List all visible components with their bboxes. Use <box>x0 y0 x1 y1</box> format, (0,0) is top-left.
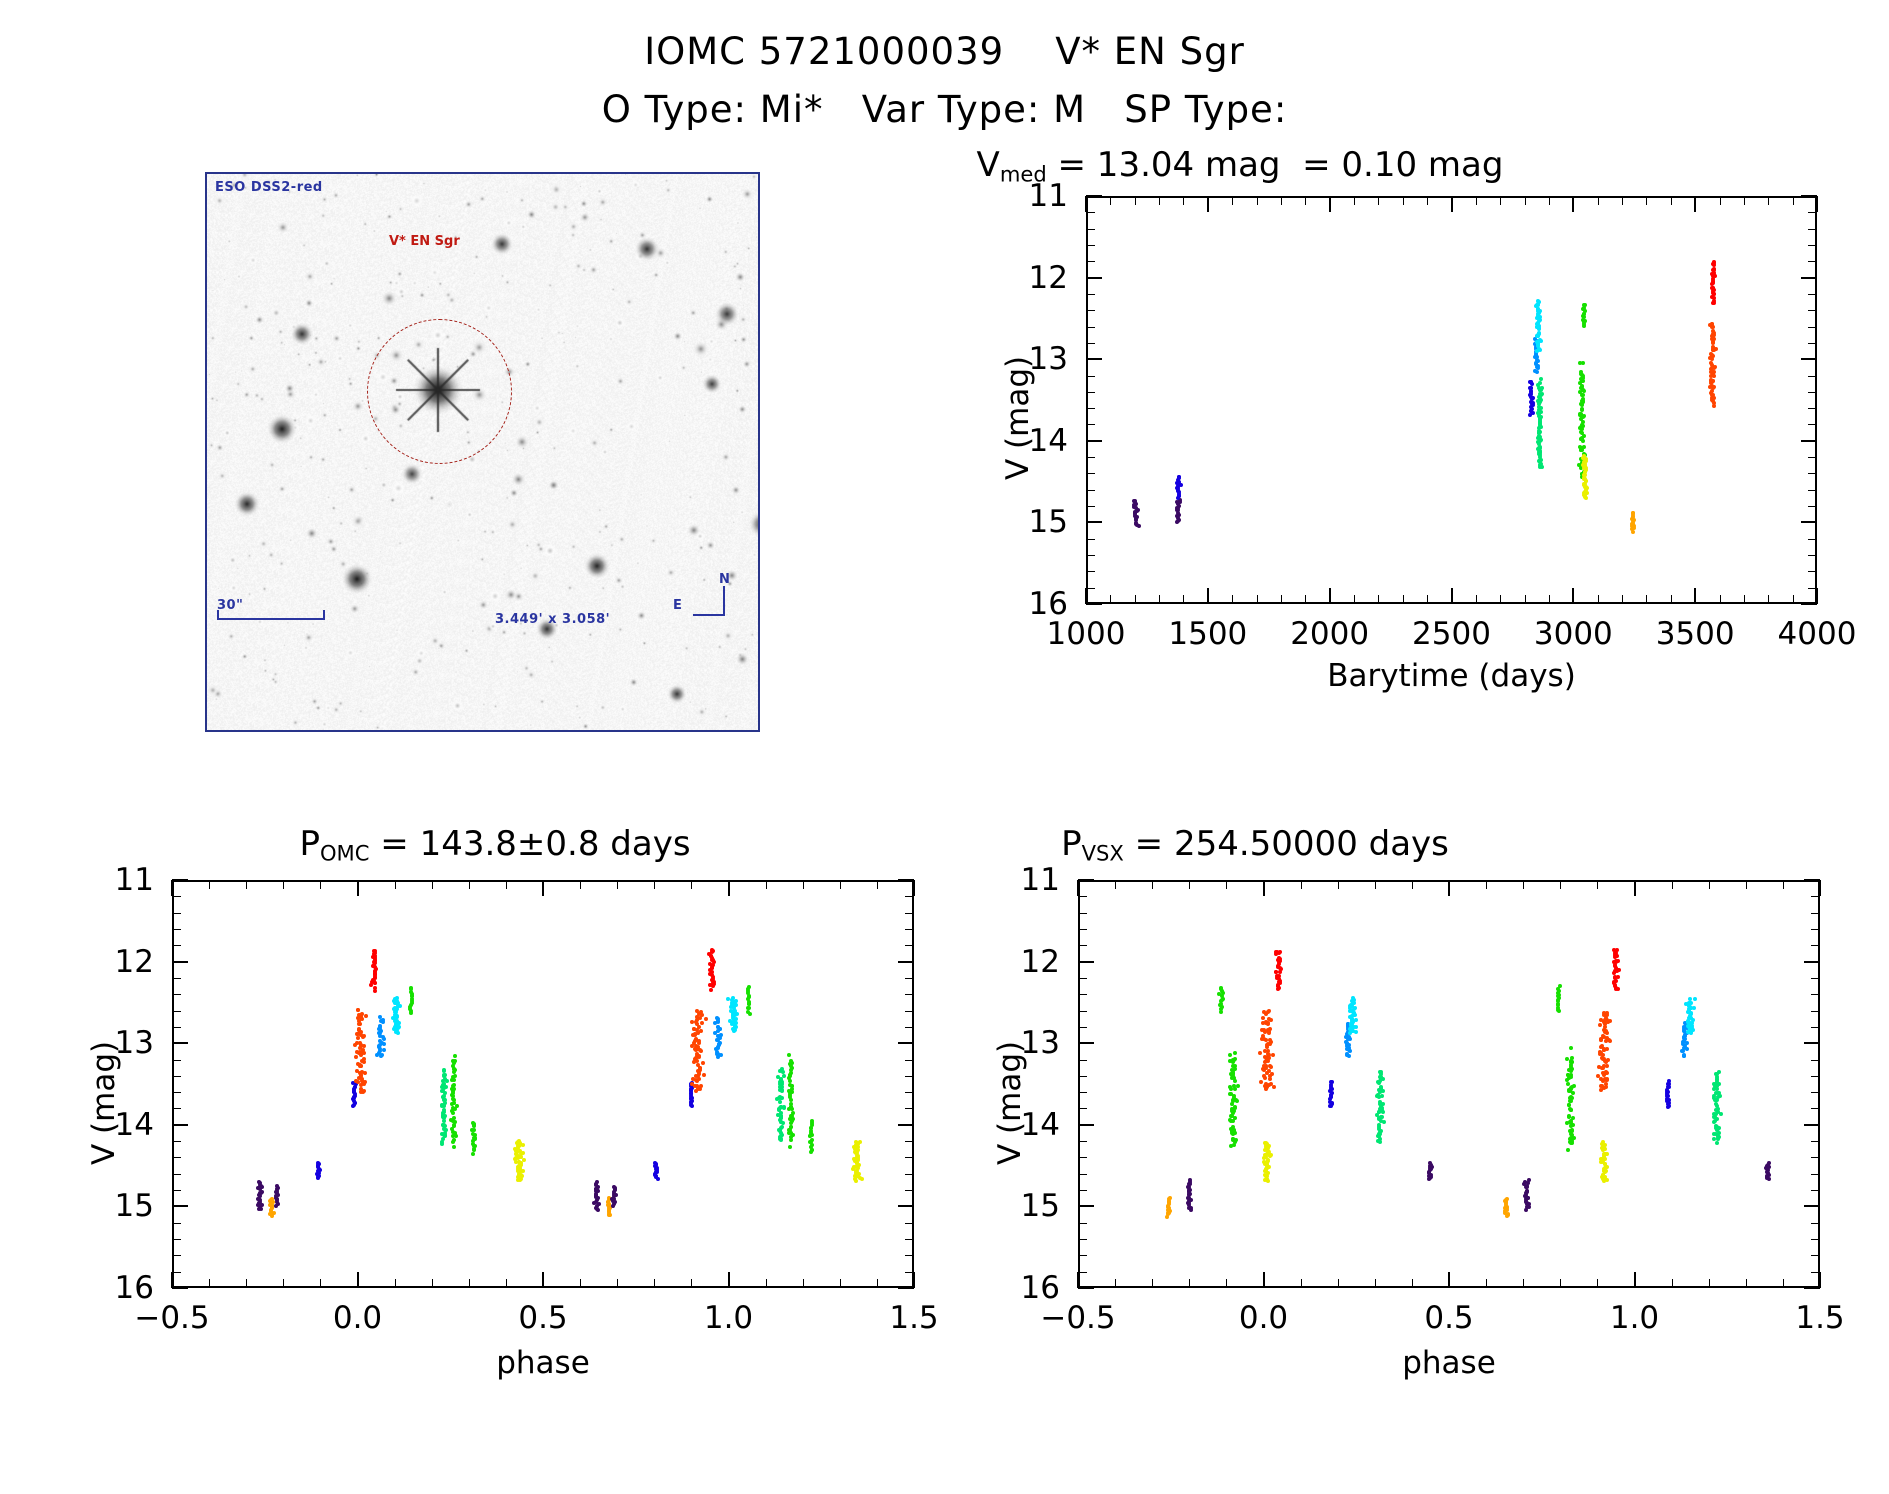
y-minor-tick <box>905 1190 914 1191</box>
x-minor-tick <box>432 880 433 889</box>
y-major-tick <box>898 1124 914 1126</box>
y-major-tick <box>172 1205 188 1207</box>
x-minor-tick <box>1232 196 1233 205</box>
y-major-tick <box>898 1042 914 1044</box>
x-major-tick <box>1085 196 1087 212</box>
x-minor-tick <box>654 1279 655 1288</box>
y-major-tick <box>1804 1205 1820 1207</box>
x-major-tick <box>542 1272 544 1288</box>
x-minor-tick <box>1159 595 1160 604</box>
y-tick-label: 15 <box>1029 504 1068 540</box>
x-minor-tick <box>1720 196 1721 205</box>
y-major-tick <box>1078 1287 1094 1289</box>
y-major-tick <box>1801 603 1817 605</box>
y-major-tick <box>172 1124 188 1126</box>
scale-bar-right-cap <box>323 610 325 620</box>
y-minor-tick <box>1078 1239 1087 1240</box>
y-minor-tick <box>1811 1076 1820 1077</box>
y-major-tick <box>1801 195 1817 197</box>
x-minor-tick <box>1486 1279 1487 1288</box>
phase-omc-plot[interactable]: −0.50.00.51.01.5111213141516 <box>172 880 914 1288</box>
y-minor-tick <box>1808 506 1817 507</box>
y-minor-tick <box>1811 1190 1820 1191</box>
y-minor-tick <box>172 1141 181 1142</box>
x-major-tick <box>1572 588 1574 604</box>
survey-label: ESO DSS2-red <box>215 180 323 195</box>
x-major-tick <box>1085 588 1087 604</box>
compass-north-arm <box>723 586 725 616</box>
figure-page: IOMC 5721000039 V* EN Sgr O Type: Mi* Va… <box>0 0 1889 1494</box>
x-minor-tick <box>1646 196 1647 205</box>
y-minor-tick <box>1808 245 1817 246</box>
x-minor-tick <box>1115 880 1116 889</box>
x-major-tick <box>1694 588 1696 604</box>
x-minor-tick <box>1560 1279 1561 1288</box>
scale-bar-left-cap <box>217 610 219 620</box>
y-major-tick <box>1801 440 1817 442</box>
x-major-tick <box>1572 196 1574 212</box>
y-major-tick <box>172 961 188 963</box>
x-minor-tick <box>1598 196 1599 205</box>
y-major-tick <box>898 1205 914 1207</box>
y-minor-tick <box>905 1060 914 1061</box>
phase-omc-x-axis-label: phase <box>172 1345 914 1381</box>
x-minor-tick <box>691 1279 692 1288</box>
y-minor-tick <box>1808 343 1817 344</box>
y-minor-tick <box>1078 1141 1087 1142</box>
y-major-tick <box>172 1287 188 1289</box>
y-minor-tick <box>1086 506 1095 507</box>
y-minor-tick <box>905 994 914 995</box>
x-minor-tick <box>320 1279 321 1288</box>
x-minor-tick <box>209 880 210 889</box>
x-minor-tick <box>1232 595 1233 604</box>
y-minor-tick <box>1811 1060 1820 1061</box>
x-minor-tick <box>1110 595 1111 604</box>
y-minor-tick <box>1808 473 1817 474</box>
x-minor-tick <box>1257 595 1258 604</box>
y-major-tick <box>172 879 188 881</box>
y-major-tick <box>1086 521 1102 523</box>
x-minor-tick <box>1783 1279 1784 1288</box>
x-minor-tick <box>1110 196 1111 205</box>
y-major-tick <box>1804 961 1820 963</box>
y-minor-tick <box>1086 294 1095 295</box>
x-minor-tick <box>283 880 284 889</box>
x-minor-tick <box>1598 595 1599 604</box>
y-minor-tick <box>905 929 914 930</box>
x-minor-tick <box>840 880 841 889</box>
x-minor-tick <box>1500 595 1501 604</box>
x-minor-tick <box>395 880 396 889</box>
y-minor-tick <box>905 1223 914 1224</box>
lightcurve-x-axis-label: Barytime (days) <box>1086 658 1817 694</box>
y-minor-tick <box>905 1011 914 1012</box>
y-minor-tick <box>1078 1092 1087 1093</box>
x-minor-tick <box>469 880 470 889</box>
y-minor-tick <box>1078 1108 1087 1109</box>
x-minor-tick <box>1622 196 1623 205</box>
x-minor-tick <box>1226 880 1227 889</box>
x-minor-tick <box>580 880 581 889</box>
x-major-tick <box>1634 1272 1636 1288</box>
finder-chart[interactable]: ESO DSS2-red V* EN Sgr 30" 3.449' x 3.05… <box>205 172 760 732</box>
y-major-tick <box>1086 195 1102 197</box>
y-minor-tick <box>905 1174 914 1175</box>
y-minor-tick <box>1078 994 1087 995</box>
x-major-tick <box>1451 588 1453 604</box>
x-minor-tick <box>803 880 804 889</box>
y-tick-label: 12 <box>1021 944 1060 980</box>
x-major-tick <box>1263 1272 1265 1288</box>
y-minor-tick <box>1086 310 1095 311</box>
x-minor-tick <box>1412 880 1413 889</box>
x-major-tick <box>1448 1272 1450 1288</box>
x-tick-label: 1.0 <box>704 1300 753 1336</box>
x-minor-tick <box>1646 595 1647 604</box>
y-minor-tick <box>1808 571 1817 572</box>
x-major-tick <box>1819 1272 1821 1288</box>
y-minor-tick <box>1811 1272 1820 1273</box>
x-minor-tick <box>1226 1279 1227 1288</box>
phase-omc-y-axis-label: V (mag) <box>86 1041 122 1165</box>
x-minor-tick <box>691 880 692 889</box>
x-minor-tick <box>654 880 655 889</box>
y-minor-tick <box>1811 1255 1820 1256</box>
x-minor-tick <box>1427 196 1428 205</box>
y-minor-tick <box>172 1157 181 1158</box>
page-subtitle: O Type: Mi* Var Type: M SP Type: <box>0 88 1889 131</box>
y-minor-tick <box>1078 1190 1087 1191</box>
y-minor-tick <box>172 913 181 914</box>
y-tick-label: 16 <box>1021 1270 1060 1306</box>
y-minor-tick <box>172 1239 181 1240</box>
x-tick-label: 1500 <box>1168 616 1247 652</box>
y-minor-tick <box>1086 261 1095 262</box>
x-minor-tick <box>1257 196 1258 205</box>
y-tick-label: 15 <box>115 1188 154 1224</box>
y-minor-tick <box>905 1108 914 1109</box>
x-minor-tick <box>1793 196 1794 205</box>
x-tick-label: 2500 <box>1412 616 1491 652</box>
y-minor-tick <box>1078 1157 1087 1158</box>
y-minor-tick <box>172 994 181 995</box>
x-minor-tick <box>877 880 878 889</box>
x-minor-tick <box>1793 595 1794 604</box>
y-minor-tick <box>1811 1223 1820 1224</box>
x-minor-tick <box>1183 196 1184 205</box>
y-minor-tick <box>172 1223 181 1224</box>
x-tick-label: 3000 <box>1534 616 1613 652</box>
x-tick-label: 1.5 <box>889 1300 938 1336</box>
y-minor-tick <box>905 1272 914 1273</box>
y-major-tick <box>1078 961 1094 963</box>
x-major-tick <box>1694 196 1696 212</box>
x-minor-tick <box>1671 595 1672 604</box>
x-minor-tick <box>1597 880 1598 889</box>
x-minor-tick <box>395 1279 396 1288</box>
x-minor-tick <box>1597 1279 1598 1288</box>
y-minor-tick <box>1808 408 1817 409</box>
phase-vsx-plot[interactable]: −0.50.00.51.01.5111213141516 <box>1078 880 1820 1288</box>
y-minor-tick <box>1086 245 1095 246</box>
x-minor-tick <box>1305 595 1306 604</box>
y-minor-tick <box>1078 1027 1087 1028</box>
y-minor-tick <box>1086 457 1095 458</box>
x-major-tick <box>1207 588 1209 604</box>
scale-bar-label: 30" <box>217 598 243 613</box>
y-minor-tick <box>1811 1027 1820 1028</box>
scale-bar <box>217 618 325 620</box>
y-minor-tick <box>1078 913 1087 914</box>
x-minor-tick <box>1768 595 1769 604</box>
y-minor-tick <box>905 913 914 914</box>
x-minor-tick <box>1476 196 1477 205</box>
y-major-tick <box>1078 1205 1094 1207</box>
y-minor-tick <box>1808 539 1817 540</box>
x-minor-tick <box>1135 196 1136 205</box>
y-major-tick <box>1086 358 1102 360</box>
y-minor-tick <box>1811 1108 1820 1109</box>
y-minor-tick <box>1078 945 1087 946</box>
x-minor-tick <box>1746 1279 1747 1288</box>
lightcurve-panel-title: Vmed = 13.04 mag = 0.10 mag <box>860 145 1620 186</box>
y-major-tick <box>172 1042 188 1044</box>
x-minor-tick <box>1152 1279 1153 1288</box>
x-minor-tick <box>320 880 321 889</box>
y-minor-tick <box>1808 310 1817 311</box>
x-minor-tick <box>617 1279 618 1288</box>
y-major-tick <box>1804 1042 1820 1044</box>
x-minor-tick <box>506 1279 507 1288</box>
y-minor-tick <box>172 1060 181 1061</box>
x-minor-tick <box>1523 1279 1524 1288</box>
x-major-tick <box>1819 880 1821 896</box>
y-minor-tick <box>1811 945 1820 946</box>
x-minor-tick <box>1500 196 1501 205</box>
y-minor-tick <box>905 1092 914 1093</box>
y-minor-tick <box>1808 457 1817 458</box>
y-tick-label: 12 <box>1029 260 1068 296</box>
y-major-tick <box>1086 440 1102 442</box>
y-minor-tick <box>1086 588 1095 589</box>
x-major-tick <box>171 1272 173 1288</box>
x-major-tick <box>1634 880 1636 896</box>
y-major-tick <box>1801 358 1817 360</box>
phase-omc-axes-frame <box>172 880 914 1288</box>
y-minor-tick <box>1086 539 1095 540</box>
x-major-tick <box>1263 880 1265 896</box>
y-major-tick <box>1804 1287 1820 1289</box>
y-minor-tick <box>1086 424 1095 425</box>
x-minor-tick <box>1338 880 1339 889</box>
y-minor-tick <box>1808 376 1817 377</box>
x-minor-tick <box>209 1279 210 1288</box>
x-minor-tick <box>1549 196 1550 205</box>
phase-vsx-x-axis-label: phase <box>1078 1345 1820 1381</box>
x-tick-label: 0.0 <box>1239 1300 1288 1336</box>
y-minor-tick <box>1078 929 1087 930</box>
x-tick-label: 0.5 <box>518 1300 567 1336</box>
field-size-label: 3.449' x 3.058' <box>495 612 610 627</box>
lightcurve-y-axis-label: V (mag) <box>1000 356 1036 480</box>
x-minor-tick <box>1159 196 1160 205</box>
phase-vsx-y-axis-label: V (mag) <box>992 1041 1028 1165</box>
y-minor-tick <box>172 1108 181 1109</box>
x-major-tick <box>728 1272 730 1288</box>
y-minor-tick <box>172 1027 181 1028</box>
phase-vsx-axes-frame <box>1078 880 1820 1288</box>
x-minor-tick <box>1768 196 1769 205</box>
y-minor-tick <box>905 1239 914 1240</box>
x-minor-tick <box>1338 1279 1339 1288</box>
x-minor-tick <box>1549 595 1550 604</box>
y-minor-tick <box>1808 327 1817 328</box>
compass-north-label: N <box>719 572 730 587</box>
x-tick-label: 1.5 <box>1795 1300 1844 1336</box>
y-minor-tick <box>172 1255 181 1256</box>
y-major-tick <box>1801 521 1817 523</box>
x-major-tick <box>913 880 915 896</box>
x-minor-tick <box>1378 595 1379 604</box>
y-major-tick <box>1086 603 1102 605</box>
y-minor-tick <box>1811 1092 1820 1093</box>
x-minor-tick <box>1135 595 1136 604</box>
x-minor-tick <box>1189 1279 1190 1288</box>
x-major-tick <box>1329 588 1331 604</box>
x-minor-tick <box>246 1279 247 1288</box>
y-minor-tick <box>1808 424 1817 425</box>
x-minor-tick <box>432 1279 433 1288</box>
y-minor-tick <box>172 1076 181 1077</box>
y-minor-tick <box>905 896 914 897</box>
x-tick-label: 2000 <box>1290 616 1369 652</box>
x-minor-tick <box>840 1279 841 1288</box>
x-minor-tick <box>877 1279 878 1288</box>
y-minor-tick <box>1086 392 1095 393</box>
y-minor-tick <box>172 1190 181 1191</box>
object-label: V* EN Sgr <box>389 234 460 249</box>
y-minor-tick <box>1808 261 1817 262</box>
x-minor-tick <box>1403 595 1404 604</box>
x-major-tick <box>357 1272 359 1288</box>
y-minor-tick <box>1086 473 1095 474</box>
y-minor-tick <box>1078 1255 1087 1256</box>
x-minor-tick <box>1427 595 1428 604</box>
y-minor-tick <box>1086 376 1095 377</box>
y-minor-tick <box>1808 229 1817 230</box>
x-tick-label: 0.0 <box>333 1300 382 1336</box>
y-minor-tick <box>1078 1011 1087 1012</box>
x-minor-tick <box>1523 880 1524 889</box>
y-tick-label: 15 <box>1021 1188 1060 1224</box>
y-major-tick <box>898 961 914 963</box>
y-minor-tick <box>1811 896 1820 897</box>
x-minor-tick <box>1744 196 1745 205</box>
x-major-tick <box>913 1272 915 1288</box>
phase-omc-panel-title: POMC = 143.8±0.8 days <box>130 824 860 865</box>
x-tick-label: 1.0 <box>1610 1300 1659 1336</box>
x-minor-tick <box>1354 196 1355 205</box>
y-major-tick <box>1804 1124 1820 1126</box>
x-minor-tick <box>1305 196 1306 205</box>
y-minor-tick <box>1086 212 1095 213</box>
y-minor-tick <box>1078 1076 1087 1077</box>
x-major-tick <box>542 880 544 896</box>
x-minor-tick <box>1281 595 1282 604</box>
y-minor-tick <box>905 1255 914 1256</box>
x-major-tick <box>1816 196 1818 212</box>
y-minor-tick <box>905 1157 914 1158</box>
x-major-tick <box>1816 588 1818 604</box>
x-major-tick <box>171 880 173 896</box>
x-minor-tick <box>1525 595 1526 604</box>
x-minor-tick <box>1709 880 1710 889</box>
x-minor-tick <box>1115 1279 1116 1288</box>
y-minor-tick <box>1086 408 1095 409</box>
y-minor-tick <box>1086 229 1095 230</box>
y-minor-tick <box>1811 1239 1820 1240</box>
x-major-tick <box>357 880 359 896</box>
y-minor-tick <box>1808 555 1817 556</box>
y-minor-tick <box>1808 294 1817 295</box>
y-major-tick <box>1078 1124 1094 1126</box>
y-minor-tick <box>1086 490 1095 491</box>
y-minor-tick <box>905 1027 914 1028</box>
y-major-tick <box>898 879 914 881</box>
y-minor-tick <box>172 1092 181 1093</box>
y-minor-tick <box>1086 327 1095 328</box>
y-major-tick <box>898 1287 914 1289</box>
x-minor-tick <box>1622 595 1623 604</box>
y-minor-tick <box>172 1272 181 1273</box>
x-minor-tick <box>1189 880 1190 889</box>
x-minor-tick <box>1354 595 1355 604</box>
x-minor-tick <box>1412 1279 1413 1288</box>
y-minor-tick <box>1811 994 1820 995</box>
x-minor-tick <box>580 1279 581 1288</box>
x-minor-tick <box>1281 196 1282 205</box>
target-circle-marker <box>367 319 512 464</box>
lightcurve-plot[interactable]: 1000150020002500300035004000111213141516 <box>1086 196 1817 604</box>
compass-east-label: E <box>673 598 682 613</box>
y-minor-tick <box>1811 1157 1820 1158</box>
x-minor-tick <box>1375 1279 1376 1288</box>
x-minor-tick <box>246 880 247 889</box>
y-minor-tick <box>172 945 181 946</box>
y-minor-tick <box>1811 978 1820 979</box>
y-minor-tick <box>1811 1174 1820 1175</box>
y-minor-tick <box>1811 913 1820 914</box>
x-minor-tick <box>1709 1279 1710 1288</box>
y-minor-tick <box>1078 1272 1087 1273</box>
x-minor-tick <box>1183 595 1184 604</box>
x-minor-tick <box>283 1279 284 1288</box>
x-tick-label: 4000 <box>1778 616 1857 652</box>
y-major-tick <box>1804 879 1820 881</box>
x-minor-tick <box>1525 196 1526 205</box>
x-minor-tick <box>1476 595 1477 604</box>
x-minor-tick <box>1301 880 1302 889</box>
x-minor-tick <box>1403 196 1404 205</box>
y-tick-label: 16 <box>115 1270 154 1306</box>
x-major-tick <box>1451 196 1453 212</box>
y-minor-tick <box>905 978 914 979</box>
y-tick-label: 11 <box>1029 178 1068 214</box>
y-major-tick <box>1086 277 1102 279</box>
lightcurve-axes-frame <box>1086 196 1817 604</box>
x-minor-tick <box>766 1279 767 1288</box>
